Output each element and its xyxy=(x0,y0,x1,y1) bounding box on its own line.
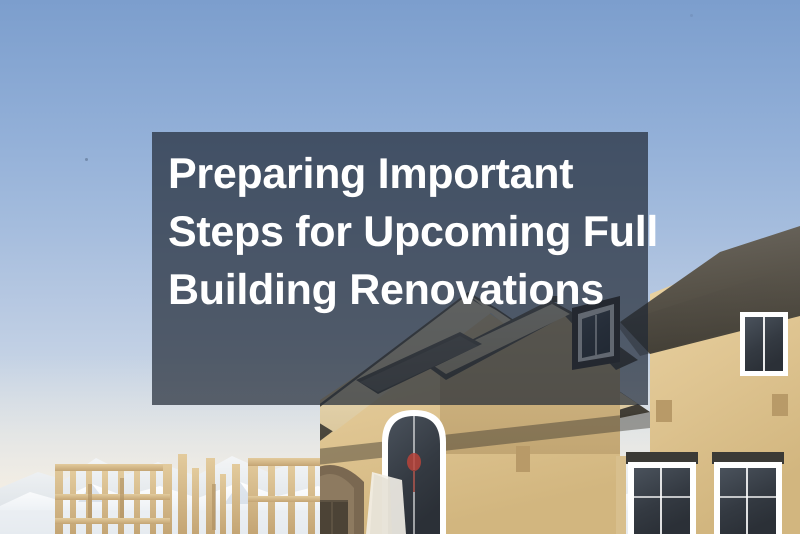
hero-image: Preparing Important Steps for Upcoming F… xyxy=(0,0,800,534)
window xyxy=(712,452,784,534)
window xyxy=(740,312,788,376)
sky-speck xyxy=(85,158,88,161)
page-title: Preparing Important Steps for Upcoming F… xyxy=(168,145,658,319)
window xyxy=(616,452,698,534)
sky-speck xyxy=(690,14,693,17)
